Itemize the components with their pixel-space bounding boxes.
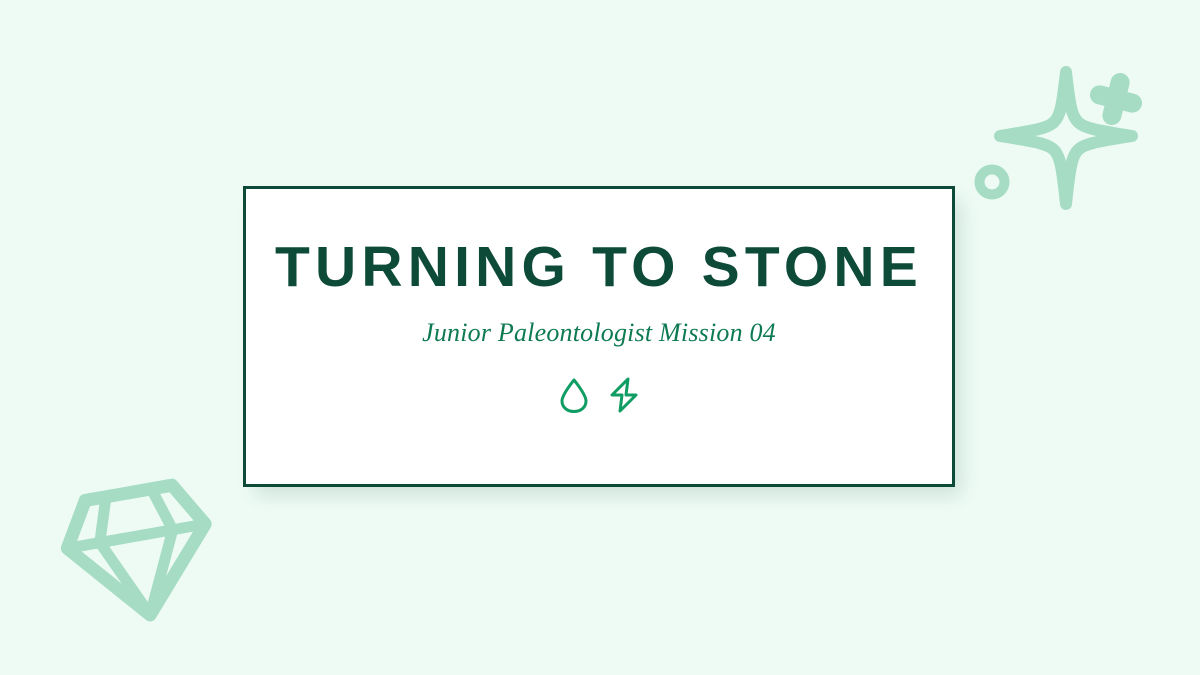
plus-sparkle-ornament [1095,78,1136,119]
icon-row [557,376,641,414]
gem-ornament [58,458,218,633]
droplet-icon [557,376,591,414]
sparkle-ornament-group [966,56,1156,231]
sparkle-star-ornament [1000,72,1132,204]
title-card: TURNING TO STONE Junior Paleontologist M… [243,186,955,487]
lightning-bolt-icon [607,376,641,414]
title-slide: TURNING TO STONE Junior Paleontologist M… [0,0,1200,675]
page-subtitle: Junior Paleontologist Mission 04 [422,318,776,348]
page-title: TURNING TO STONE [275,238,923,296]
circle-ring-ornament [980,170,1005,195]
